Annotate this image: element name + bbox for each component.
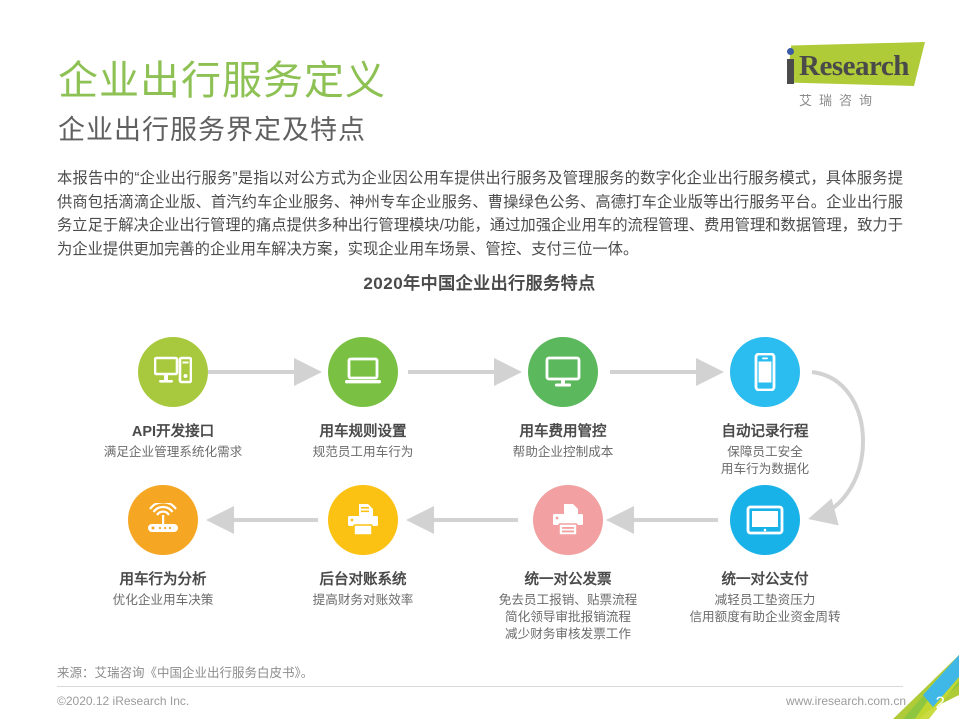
node-cost-title: 用车费用管控	[468, 420, 658, 441]
node-cost-circle	[528, 337, 598, 407]
printer-invoice-icon	[551, 503, 585, 537]
node-cost-desc-line-1: 帮助企业控制成本	[468, 444, 658, 461]
logo-mark: Research	[775, 42, 925, 88]
node-analysis[interactable]: 用车行为分析 优化企业用车决策	[68, 485, 258, 609]
node-reconcile-desc-line-1: 提高财务对账效率	[268, 592, 458, 609]
wifi-router-icon	[144, 503, 182, 537]
node-invoice-title: 统一对公发票	[473, 568, 663, 589]
node-record-desc: 保障员工安全 用车行为数据化	[670, 444, 860, 478]
node-record-title: 自动记录行程	[670, 420, 860, 441]
node-reconcile-title: 后台对账系统	[268, 568, 458, 589]
node-analysis-circle	[128, 485, 198, 555]
process-diagram: API开发接口 满足企业管理系统化需求 用车规则设置 规范员工用车行为	[0, 320, 959, 650]
node-api[interactable]: API开发接口 满足企业管理系统化需求	[78, 337, 268, 461]
node-reconcile-circle	[328, 485, 398, 555]
monitor-icon	[545, 356, 581, 388]
node-record-desc-line-2: 用车行为数据化	[670, 461, 860, 478]
logo-chinese-name: 艾瑞咨询	[799, 90, 879, 109]
page-number: 2	[936, 693, 945, 713]
node-api-circle	[138, 337, 208, 407]
desktop-computer-icon	[154, 356, 192, 388]
node-analysis-desc-line-1: 优化企业用车决策	[68, 592, 258, 609]
node-invoice-desc: 免去员工报销、贴票流程 简化领导审批报销流程 减少财务审核发票工作	[473, 592, 663, 643]
node-api-desc-line-1: 满足企业管理系统化需求	[78, 444, 268, 461]
logo-wordmark: Research	[799, 50, 909, 83]
footer-divider	[57, 686, 903, 687]
node-payment-desc-line-1: 减轻员工垫资压力	[670, 592, 860, 609]
node-invoice-desc-line-2: 简化领导审批报销流程	[473, 609, 663, 626]
node-payment-desc: 减轻员工垫资压力 信用额度有助企业资金周转	[670, 592, 860, 626]
logo-i-dot-icon	[787, 48, 794, 55]
corner-triangles-icon	[889, 655, 959, 719]
node-analysis-title: 用车行为分析	[68, 568, 258, 589]
page-title: 企业出行服务定义	[58, 48, 386, 106]
node-payment-circle	[730, 485, 800, 555]
node-analysis-desc: 优化企业用车决策	[68, 592, 258, 609]
node-invoice-desc-line-3: 减少财务审核发票工作	[473, 626, 663, 643]
node-api-title: API开发接口	[78, 420, 268, 441]
node-record-circle	[730, 337, 800, 407]
node-cost[interactable]: 用车费用管控 帮助企业控制成本	[468, 337, 658, 461]
body-paragraph: 本报告中的“企业出行服务”是指以对公方式为企业因公用车提供出行服务及管理服务的数…	[57, 167, 903, 261]
node-rules-title: 用车规则设置	[268, 420, 458, 441]
tablet-icon	[746, 505, 784, 535]
node-payment-title: 统一对公支付	[670, 568, 860, 589]
node-rules[interactable]: 用车规则设置 规范员工用车行为	[268, 337, 458, 461]
printer-document-icon	[346, 503, 380, 537]
chart-title: 2020年中国企业出行服务特点	[0, 269, 959, 294]
body-paragraph-text: 本报告中的“企业出行服务”是指以对公方式为企业因公用车提供出行服务及管理服务的数…	[57, 167, 903, 261]
node-record[interactable]: 自动记录行程 保障员工安全 用车行为数据化	[670, 337, 860, 478]
page-subtitle: 企业出行服务界定及特点	[58, 108, 366, 147]
node-cost-desc: 帮助企业控制成本	[468, 444, 658, 461]
corner-decoration	[889, 655, 959, 719]
node-payment[interactable]: 统一对公支付 减轻员工垫资压力 信用额度有助企业资金周转	[670, 485, 860, 626]
smartphone-icon	[753, 353, 777, 391]
slide: Research 艾瑞咨询 企业出行服务定义 企业出行服务界定及特点 本报告中的…	[0, 0, 959, 719]
node-api-desc: 满足企业管理系统化需求	[78, 444, 268, 461]
copyright-text: ©2020.12 iResearch Inc.	[57, 694, 189, 708]
node-rules-circle	[328, 337, 398, 407]
node-rules-desc-line-1: 规范员工用车行为	[268, 444, 458, 461]
node-record-desc-line-1: 保障员工安全	[670, 444, 860, 461]
node-invoice-desc-line-1: 免去员工报销、贴票流程	[473, 592, 663, 609]
node-reconcile-desc: 提高财务对账效率	[268, 592, 458, 609]
node-payment-desc-line-2: 信用额度有助企业资金周转	[670, 609, 860, 626]
node-rules-desc: 规范员工用车行为	[268, 444, 458, 461]
iresearch-logo: Research 艾瑞咨询	[775, 42, 925, 112]
node-reconcile[interactable]: 后台对账系统 提高财务对账效率	[268, 485, 458, 609]
node-invoice[interactable]: 统一对公发票 免去员工报销、贴票流程 简化领导审批报销流程 减少财务审核发票工作	[473, 485, 663, 643]
node-invoice-circle	[533, 485, 603, 555]
laptop-icon	[344, 357, 382, 387]
logo-i-stem-icon	[787, 59, 794, 84]
source-note: 来源：艾瑞咨询《中国企业出行服务白皮书》。	[57, 662, 313, 681]
